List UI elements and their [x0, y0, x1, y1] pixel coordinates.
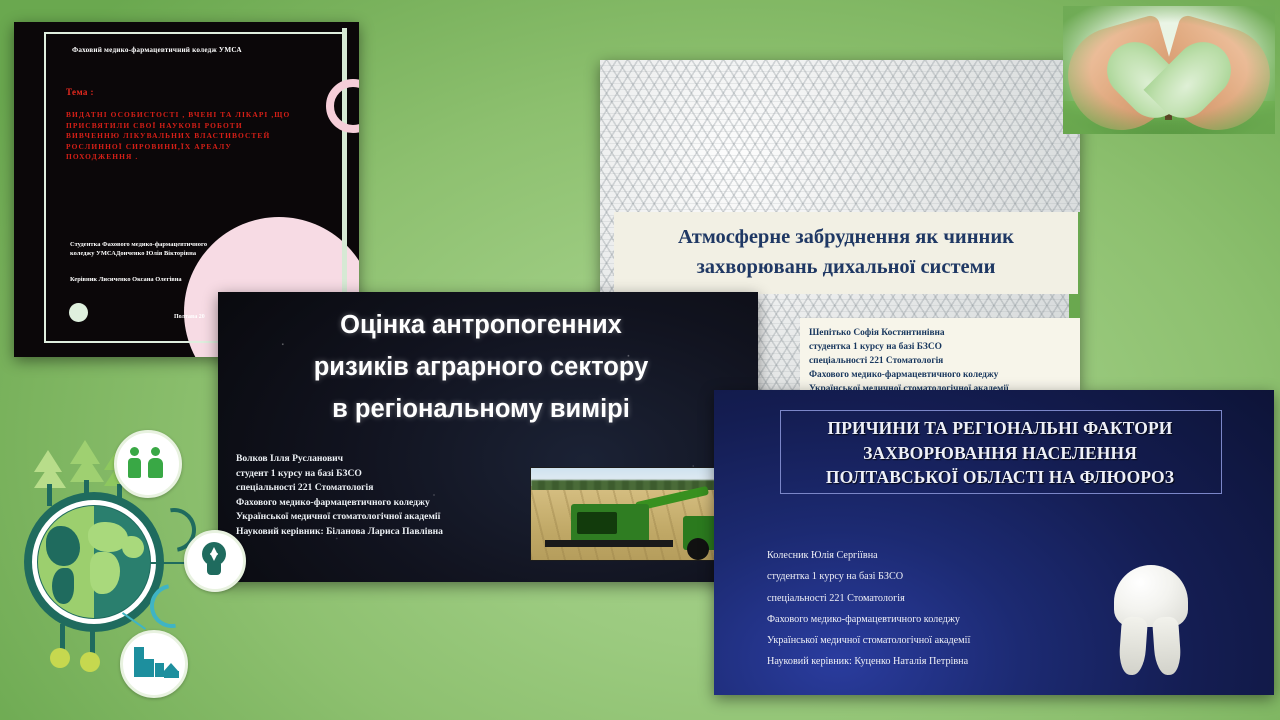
person-head-right: [151, 447, 160, 456]
slide-2-body-line: студентка 1 курсу на базі БЗСО: [809, 340, 1080, 354]
slide-2-body-line: спеціальності 221 Стоматологія: [809, 354, 1080, 368]
slide-3-title: Оцінка антропогенних ризиків аграрного с…: [236, 304, 726, 430]
slide-4-body-line: студентка 1 курсу на базі БЗСО: [767, 566, 1087, 587]
photo-vignette: [1063, 6, 1275, 134]
slide-3-body-line: Фахового медико-фармацевтичного коледжу: [236, 496, 536, 511]
slide-1-topic-label: Тема :: [66, 87, 94, 97]
tooth-root-left: [1118, 616, 1148, 676]
slide-3-body-line: спеціальності 221 Стоматологія: [236, 481, 536, 496]
person-head-left: [130, 447, 139, 456]
slide-3-body-line: студент 1 курсу на базі БЗСО: [236, 467, 536, 482]
slide-thumbnail-4[interactable]: ПРИЧИНИ ТА РЕГІОНАЛЬНІ ФАКТОРИ ЗАХВОРЮВА…: [714, 390, 1274, 695]
slide-4-body-line: Фахового медико-фармацевтичного коледжу: [767, 609, 1087, 630]
slide-collage-canvas: Фаховий медико-фармацевтичний коледж УМС…: [0, 0, 1280, 720]
bud-stem-left: [60, 624, 65, 650]
vertical-line-decor: [342, 28, 347, 328]
factory-house-icon: [120, 630, 188, 698]
slide-3-title-line: ризиків аграрного сектору: [236, 346, 726, 388]
bolt-lower: [210, 553, 218, 561]
slide-4-title-line: ПОЛТАВСЬКОЇ ОБЛАСТІ НА ФЛЮОРОЗ: [784, 465, 1216, 490]
slide-1-author-line1: Студентка Фахового медико-фармацевтичног…: [70, 240, 290, 249]
slide-4-body-line: Науковий керівник: Куценко Наталія Петрі…: [767, 651, 1087, 672]
eco-globe-infographic: [2, 424, 212, 709]
slide-4-title-line: ЗАХВОРЮВАННЯ НАСЕЛЕННЯ: [784, 441, 1216, 466]
person-body-right: [148, 458, 163, 478]
green-dot-decor: [69, 303, 88, 322]
slide-4-body-line: Колесник Юлія Сергіївна: [767, 545, 1087, 566]
slide-1-city-year: Полтава 20: [174, 314, 205, 320]
house-body: [164, 671, 179, 678]
slide-thumbnail-3[interactable]: Оцінка антропогенних ризиків аграрного с…: [218, 292, 758, 582]
slide-2-title: Атмосферне забруднення як чинник захворю…: [614, 212, 1078, 294]
harvester-cab: [577, 512, 617, 534]
slide-1-author: Студентка Фахового медико-фармацевтичног…: [70, 240, 290, 258]
slide-2-body-line: Української медичної стоматологічної ака…: [809, 382, 1080, 390]
globe-inner-ring: [32, 500, 156, 624]
slide-3-title-line: в регіональному вимірі: [236, 388, 726, 430]
bud-circle-right: [80, 652, 100, 672]
slide-1-header: Фаховий медико-фармацевтичний коледж УМС…: [72, 46, 242, 54]
slide-2-body-line: Шепітько Софія Костянтинівна: [809, 326, 1080, 340]
bulb-base: [207, 564, 221, 575]
slide-3-body-line: Волков Ілля Русланович: [236, 452, 536, 467]
slide-4-title-line: ПРИЧИНИ ТА РЕГІОНАЛЬНІ ФАКТОРИ: [784, 416, 1216, 441]
slide-1-supervisor: Керівник Лисиченко Оксана Олегівна: [70, 275, 300, 284]
bud-circle-left: [50, 648, 70, 668]
combine-harvester-photo: [530, 467, 744, 561]
tooth-image: [1110, 565, 1192, 675]
factory-chimney: [134, 647, 144, 677]
slide-3-title-line: Оцінка антропогенних: [236, 304, 726, 346]
person-body-left: [128, 458, 141, 478]
tree-stem-left: [47, 484, 52, 506]
bud-stem-right: [90, 624, 95, 654]
slide-2-body-line: Фахового медико-фармацевтичного коледжу: [809, 368, 1080, 382]
slide-3-body-line: Української медичної стоматологічної ака…: [236, 510, 536, 525]
energy-bulb-icon: [184, 530, 246, 592]
slide-4-title: ПРИЧИНИ ТА РЕГІОНАЛЬНІ ФАКТОРИ ЗАХВОРЮВА…: [784, 416, 1216, 490]
slide-4-body: Колесник Юлія Сергіївна студентка 1 курс…: [767, 545, 1087, 673]
slide-4-body-line: спеціальності 221 Стоматологія: [767, 588, 1087, 609]
slide-2-body: Шепітько Софія Костянтинівна студентка 1…: [800, 318, 1080, 390]
slide-4-body-line: Української медичної стоматологічної ака…: [767, 630, 1087, 651]
slide-1-author-line2: коледжу УМСАДонченко Юлія Вікторівна: [70, 249, 290, 258]
tree-icon-mid-bottom: [70, 456, 104, 482]
slide-3-body-line: Науковий керівник: Біланова Лариса Павлі…: [236, 525, 536, 540]
people-icon: [114, 430, 182, 498]
hands-heart-tree-photo: [1063, 6, 1275, 134]
tractor-wheel-rear: [687, 538, 709, 560]
slide-3-body: Волков Ілля Русланович студент 1 курсу н…: [236, 452, 536, 540]
tooth-root-right: [1152, 616, 1182, 676]
slide-1-title: ВИДАТНІ ОСОБИСТОСТІ , ВЧЕНІ ТА ЛІКАРІ ,Щ…: [66, 110, 298, 163]
harvester-header-bar: [545, 540, 673, 547]
factory-block-1: [144, 659, 154, 677]
